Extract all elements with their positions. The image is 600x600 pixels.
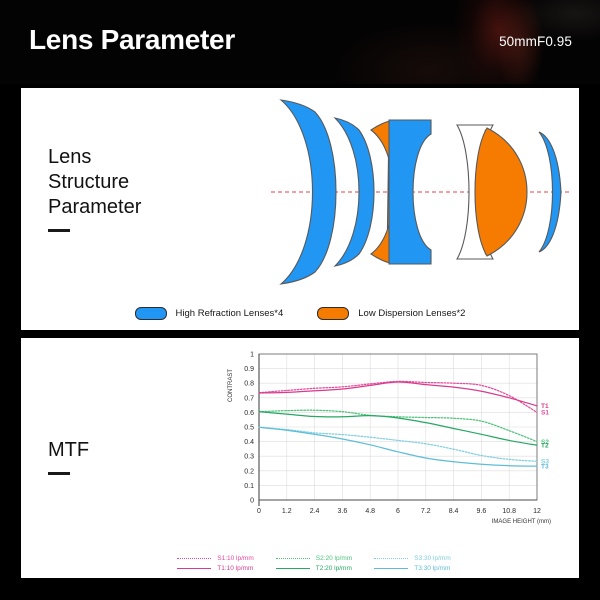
y-tick-0.8: 0.8 — [244, 381, 254, 388]
y-tick-0.7: 0.7 — [244, 395, 254, 402]
lens-element-6b-low-dispersion — [475, 128, 527, 256]
chart-x-axis-title: IMAGE HEIGHT (mm) — [492, 519, 551, 525]
legend-item-low-dispersion: Low Dispersion Lenses*2 — [317, 307, 465, 320]
lens-element-2-high-refraction — [335, 118, 374, 266]
chart-y-tick-labels: 00.10.20.30.40.50.60.70.80.91 — [244, 352, 254, 505]
y-tick-0.4: 0.4 — [244, 439, 254, 446]
legend-line-s2-icon — [276, 558, 310, 559]
legend-swatch-orange-icon — [317, 307, 349, 320]
x-tick-0: 0 — [257, 508, 261, 515]
end-label-t1: T1 — [541, 403, 549, 410]
x-tick-2.4: 2.4 — [310, 508, 320, 515]
page-header: Lens Parameter 50mmF0.95 — [0, 0, 600, 84]
legend-swatch-blue-icon — [135, 307, 167, 320]
y-tick-0: 0 — [250, 498, 254, 505]
mtf-heading-text: MTF — [48, 438, 89, 463]
mtf-heading: MTF — [48, 438, 89, 475]
lens-structure-panel: Lens Structure Parameter — [21, 88, 579, 330]
legend-text-t1: T1:10 lp/mm — [217, 565, 253, 572]
mtf-legend-item-t3: T3:30 lp/mm — [374, 565, 451, 572]
mtf-legend-item-t2: T2:20 lp/mm — [276, 565, 353, 572]
legend-text-s1: S1:10 lp/mm — [217, 555, 254, 562]
lens-element-7-high-refraction — [539, 132, 561, 252]
lens-element-4-high-refraction — [389, 120, 431, 264]
legend-line-t1-icon — [177, 568, 211, 569]
chart-y-axis-title: CONTRAST — [228, 369, 234, 402]
lens-cross-section-diagram — [271, 92, 571, 292]
end-label-s1: S1 — [541, 410, 549, 417]
mtf-legend-item-s1: S1:10 lp/mm — [177, 555, 254, 562]
heading-line-1: Lens — [48, 145, 141, 170]
lens-parameter-page: Lens Parameter 50mmF0.95 Lens Structure … — [0, 0, 600, 600]
mtf-legend-item-s2: S2:20 lp/mm — [276, 555, 353, 562]
mtf-legend-item-t1: T1:10 lp/mm — [177, 565, 254, 572]
chart-x-tick-labels: 01.22.43.64.867.28.49.610.812 — [257, 508, 541, 515]
x-tick-1.2: 1.2 — [282, 508, 292, 515]
legend-text-s2: S2:20 lp/mm — [316, 555, 353, 562]
lens-structure-heading: Lens Structure Parameter — [48, 145, 141, 232]
x-tick-10.8: 10.8 — [502, 508, 516, 515]
lens-structure-legend: High Refraction Lenses*4 Low Dispersion … — [21, 307, 579, 320]
legend-line-s1-icon — [177, 558, 211, 559]
y-tick-0.2: 0.2 — [244, 468, 254, 475]
y-tick-1: 1 — [250, 352, 254, 359]
legend-line-s3-icon — [374, 558, 408, 559]
heading-underline — [48, 229, 70, 232]
y-tick-0.1: 0.1 — [244, 483, 254, 490]
mtf-legend: S1:10 lp/mmT1:10 lp/mmS2:20 lp/mmT2:20 l… — [57, 555, 571, 572]
y-tick-0.9: 0.9 — [244, 366, 254, 373]
chart-series-end-labels: S1T1S2T2S3T3 — [541, 403, 549, 470]
mtf-legend-item-s3: S3:30 lp/mm — [374, 555, 451, 562]
lens-spec-label: 50mmF0.95 — [499, 34, 572, 49]
legend-text-t3: T3:30 lp/mm — [414, 565, 450, 572]
legend-line-t3-icon — [374, 568, 408, 569]
heading-line-3: Parameter — [48, 195, 141, 220]
mtf-legend-column-2: S2:20 lp/mmT2:20 lp/mm — [276, 555, 353, 572]
legend-line-t2-icon — [276, 568, 310, 569]
mtf-legend-column-1: S1:10 lp/mmT1:10 lp/mm — [177, 555, 254, 572]
y-tick-0.6: 0.6 — [244, 410, 254, 417]
chart-gridlines — [259, 354, 537, 500]
mtf-heading-underline — [48, 472, 70, 475]
mtf-legend-column-3: S3:30 lp/mmT3:30 lp/mm — [374, 555, 451, 572]
end-label-t3: T3 — [541, 463, 549, 470]
x-tick-9.6: 9.6 — [477, 508, 487, 515]
legend-item-high-refraction: High Refraction Lenses*4 — [135, 307, 284, 320]
end-label-t2: T2 — [541, 442, 549, 449]
legend-label-low-dispersion: Low Dispersion Lenses*2 — [358, 308, 465, 319]
y-tick-0.5: 0.5 — [244, 425, 254, 432]
x-tick-3.6: 3.6 — [338, 508, 348, 515]
x-tick-4.8: 4.8 — [365, 508, 375, 515]
y-tick-0.3: 0.3 — [244, 454, 254, 461]
legend-label-high-refraction: High Refraction Lenses*4 — [176, 308, 284, 319]
x-tick-7.2: 7.2 — [421, 508, 431, 515]
page-title: Lens Parameter — [29, 24, 235, 56]
heading-line-2: Structure — [48, 170, 141, 195]
legend-text-s3: S3:30 lp/mm — [414, 555, 451, 562]
mtf-panel: MTF 01.22.43.64.867.28.49.610.812 00.10.… — [21, 338, 579, 578]
legend-text-t2: T2:20 lp/mm — [316, 565, 352, 572]
mtf-chart: 01.22.43.64.867.28.49.610.812 00.10.20.3… — [221, 342, 571, 542]
x-tick-12: 12 — [533, 508, 541, 515]
x-tick-6: 6 — [396, 508, 400, 515]
x-tick-8.4: 8.4 — [449, 508, 459, 515]
